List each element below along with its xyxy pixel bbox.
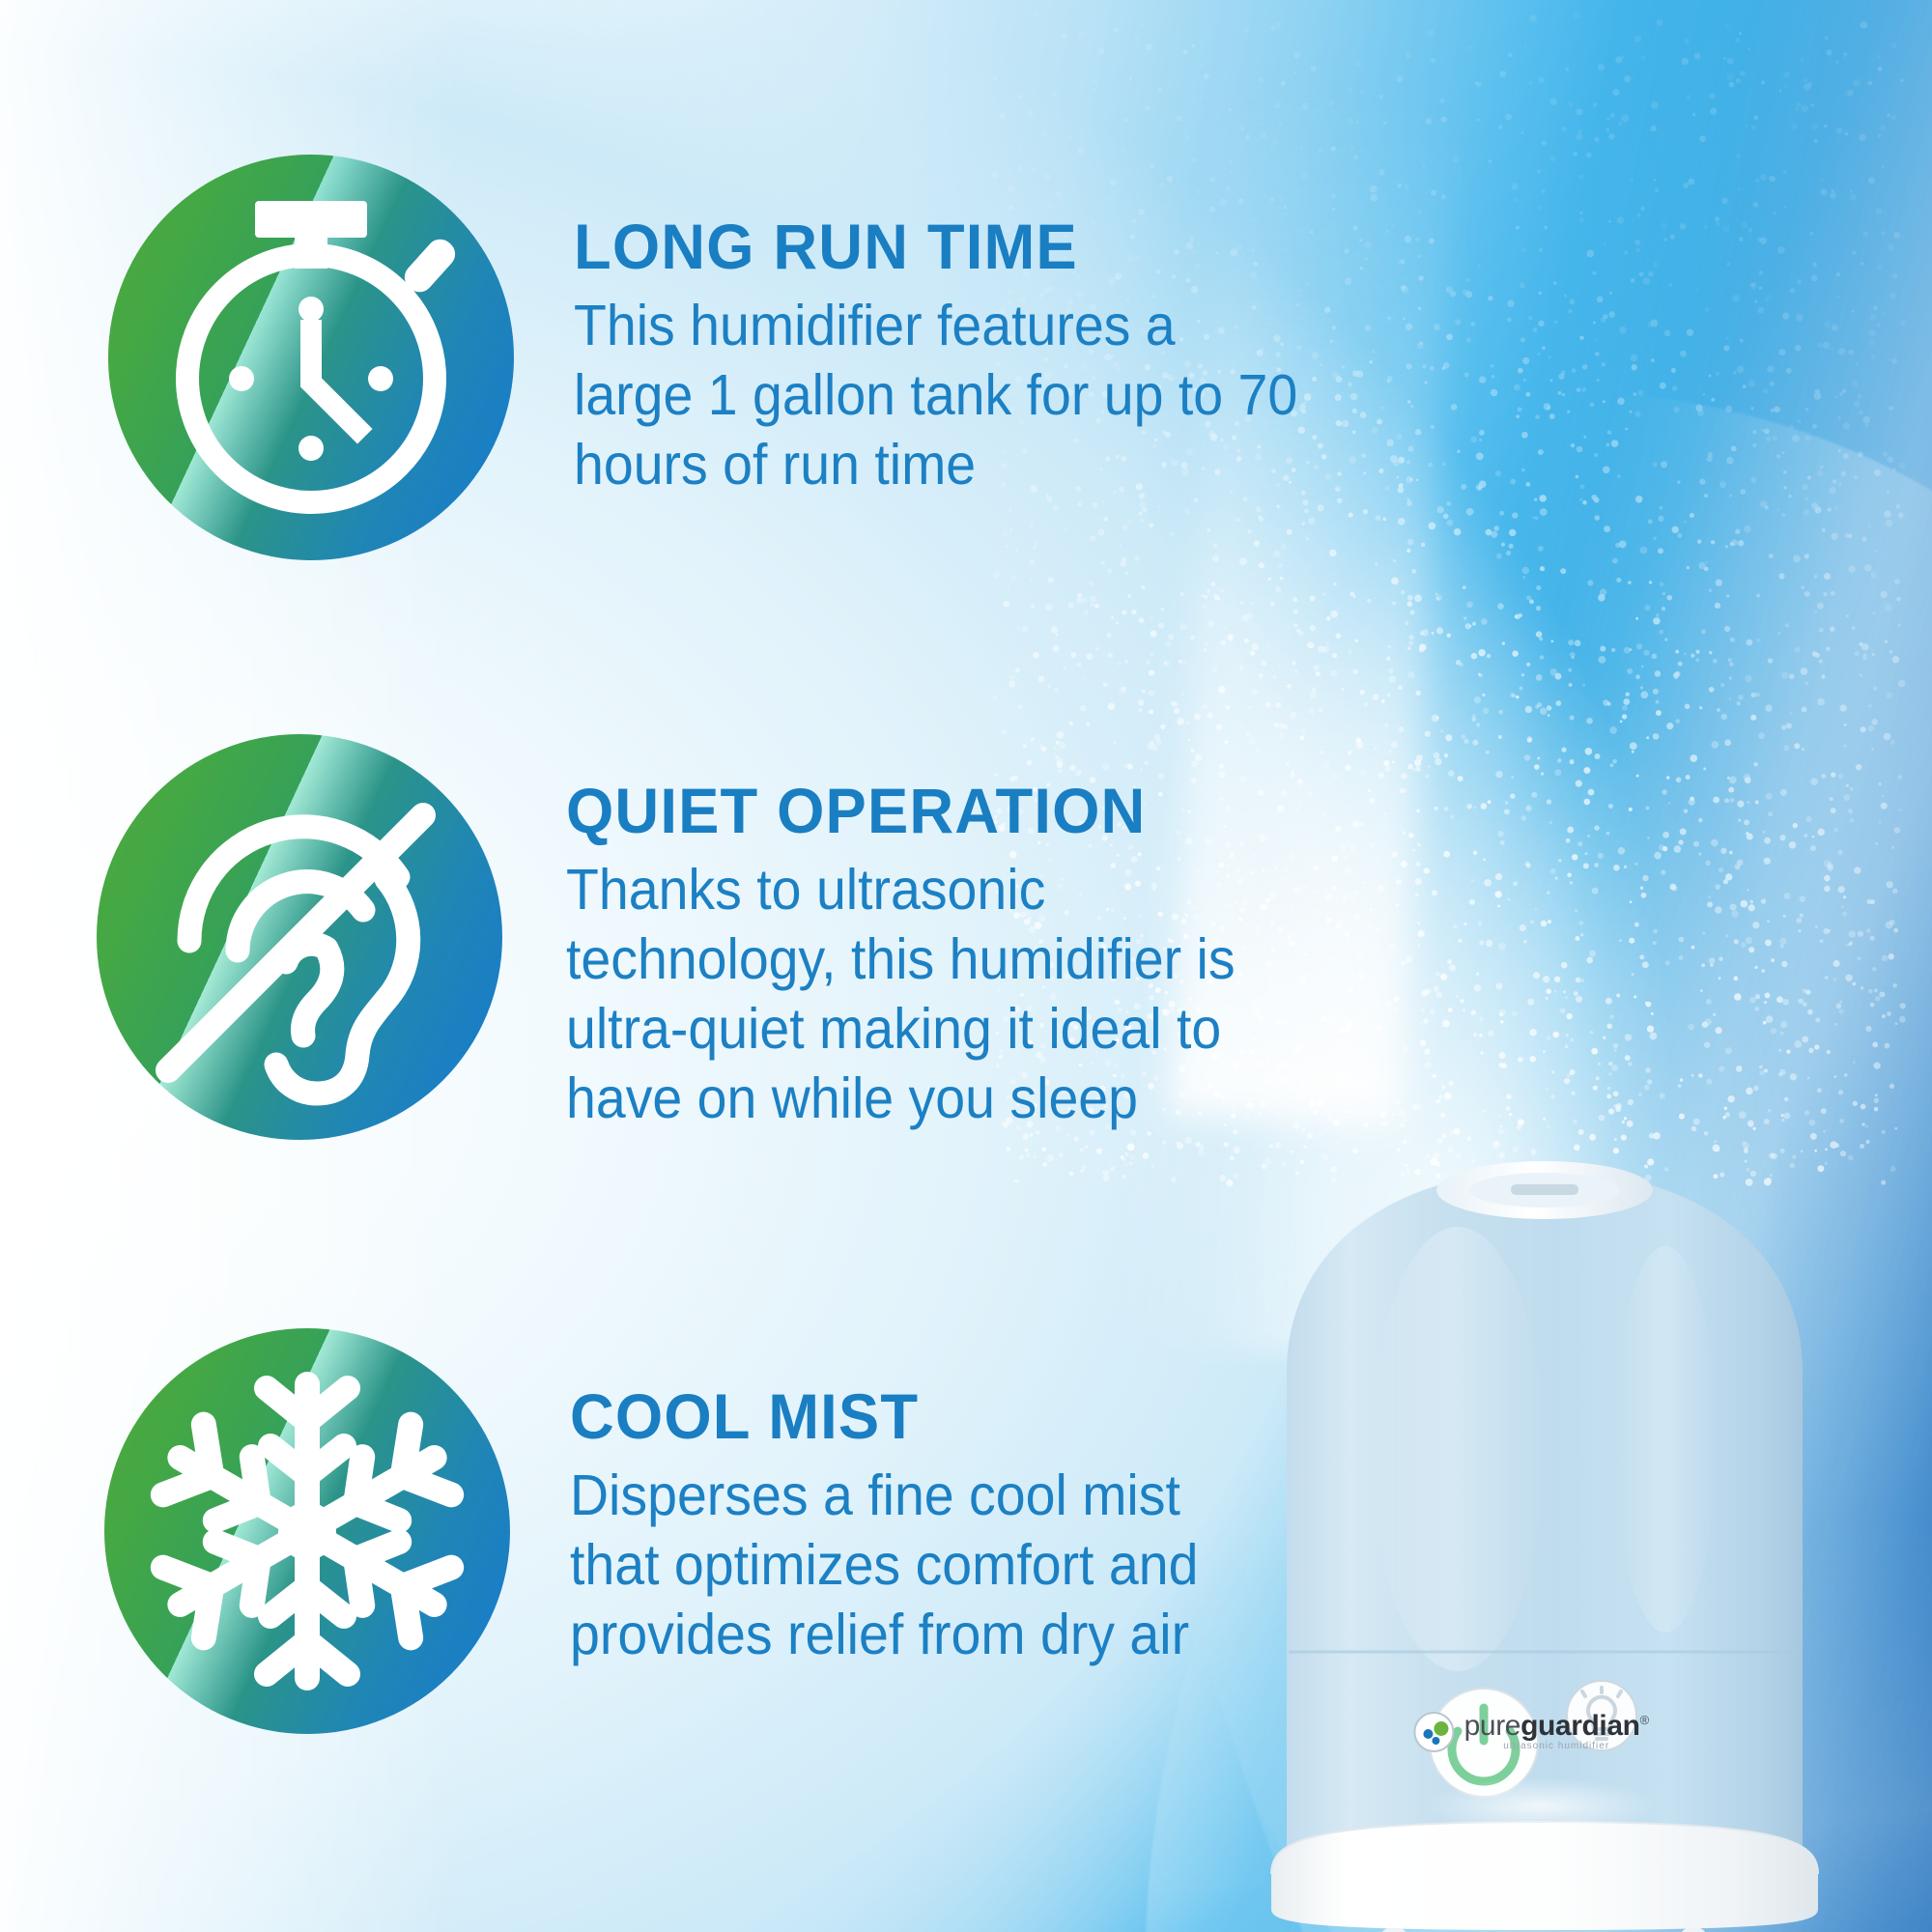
feature-cool-mist: COOL MIST Disperses a fine cool mistthat… — [104, 1328, 1238, 1734]
feature-body-line: ultra-quiet making it ideal to — [566, 995, 1236, 1065]
feature-title: COOL MIST — [570, 1384, 1211, 1448]
feature-body: Thanks to ultrasonictechnology, this hum… — [566, 856, 1236, 1134]
feature-copy: COOL MIST Disperses a fine cool mistthat… — [570, 1328, 1238, 1670]
feature-body-line: have on while you sleep — [566, 1065, 1236, 1134]
feature-body-line: This humidifier features a — [574, 292, 1297, 361]
feature-copy: QUIET OPERATION Thanks to ultrasonictech… — [566, 734, 1278, 1134]
feature-icon-wrapper — [108, 155, 514, 560]
snowflake-icon — [104, 1328, 510, 1734]
feature-body-line: hours of run time — [574, 431, 1297, 500]
brand-tagline: ultrasonic humidifier — [1464, 1742, 1649, 1751]
humidifier-product-image: pureguardian® ultrasonic humidifier — [1211, 1130, 1878, 1932]
feature-icon-wrapper — [104, 1328, 510, 1734]
humidifier-illustration — [1211, 1130, 1878, 1932]
feature-icon-wrapper — [97, 734, 502, 1140]
feature-body-line: that optimizes comfort and — [570, 1531, 1198, 1601]
humidifier-base — [1271, 1822, 1818, 1930]
no-hearing-ear-icon-glyph — [97, 734, 502, 1140]
feature-long-run-time: LONG RUN TIME This humidifier features a… — [108, 155, 1344, 560]
brand-word-bold: guardian — [1520, 1710, 1639, 1742]
feature-body: Disperses a fine cool mistthat optimizes… — [570, 1462, 1198, 1670]
brand-logo-text: pureguardian® ultrasonic humidifier — [1464, 1713, 1649, 1751]
brand-word-light: pure — [1464, 1710, 1520, 1742]
feature-quiet-operation: QUIET OPERATION Thanks to ultrasonictech… — [97, 734, 1278, 1140]
feature-body-line: technology, this humidifier is — [566, 925, 1236, 995]
brand-logo: pureguardian® ultrasonic humidifier — [1414, 1712, 1649, 1752]
stopwatch-icon — [108, 155, 514, 560]
feature-body-line: Thanks to ultrasonic — [566, 856, 1236, 925]
snowflake-icon-glyph — [104, 1328, 510, 1734]
pureguardian-mark-icon — [1414, 1712, 1455, 1752]
trademark-symbol: ® — [1640, 1713, 1649, 1727]
stopwatch-icon-glyph — [108, 155, 514, 560]
feature-body: This humidifier features alarge 1 gallon… — [574, 292, 1297, 500]
feature-title: QUIET OPERATION — [566, 779, 1249, 842]
feature-body-line: Disperses a fine cool mist — [570, 1462, 1198, 1531]
feature-body-line: provides relief from dry air — [570, 1601, 1198, 1670]
feature-title: LONG RUN TIME — [574, 214, 1313, 278]
feature-body-line: large 1 gallon tank for up to 70 — [574, 361, 1297, 431]
no-hearing-ear-icon — [97, 734, 502, 1140]
feature-copy: LONG RUN TIME This humidifier features a… — [574, 155, 1344, 500]
